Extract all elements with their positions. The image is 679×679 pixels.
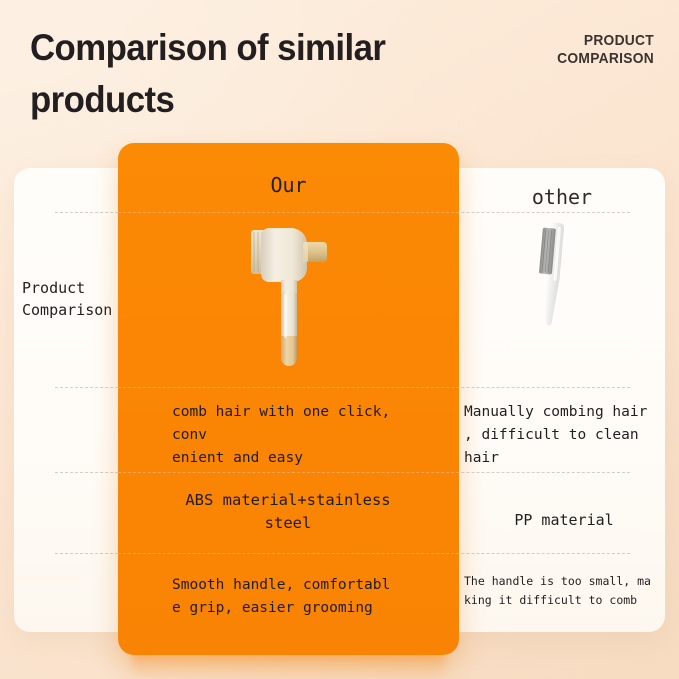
feature-cell-other-3: The handle is too small, ma king it diff… (464, 572, 664, 610)
row-divider-4-over-card (118, 553, 459, 554)
feature-cell-ours-1: comb hair with one click, conv enient an… (172, 401, 404, 470)
product-comparison-poster: Comparison of similar products PRODUCT C… (0, 0, 679, 679)
kicker-label: PRODUCT COMPARISON (498, 32, 654, 68)
slicker-brush-image (245, 218, 341, 378)
row-divider-2-over-card (118, 387, 459, 388)
feature-cell-ours-2: ABS material+stainless steel (172, 489, 404, 535)
row-divider-3-over-card (118, 472, 459, 473)
feature-cell-other-1: Manually combing hair , difficult to cle… (464, 401, 664, 470)
column-header-other: other (459, 184, 665, 210)
column-header-ours: Our (118, 172, 459, 198)
page-title: Comparison of similar products (30, 22, 444, 126)
flea-comb-image (508, 218, 584, 328)
poster-header: Comparison of similar products PRODUCT C… (0, 0, 679, 140)
feature-cell-other-2: PP material (464, 509, 664, 532)
feature-cell-ours-3: Smooth handle, comfortabl e grip, easier… (172, 574, 404, 620)
row-divider-1-over-card (118, 212, 459, 213)
